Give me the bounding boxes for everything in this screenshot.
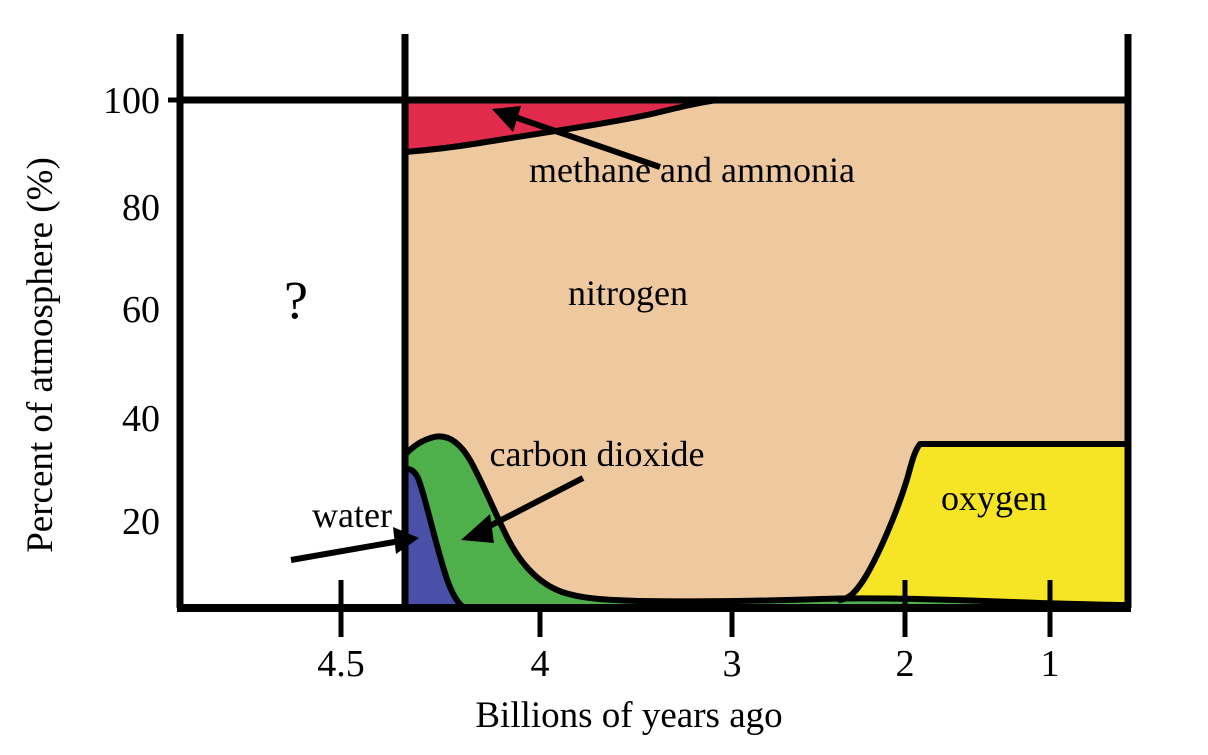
x-tick-label-0: 4.5 [317,643,365,685]
x-tick-label-3: 2 [896,643,915,685]
x-tick-labels: 4.5 4 3 2 1 [317,643,1059,685]
y-axis-title: Percent of atmosphere (%) [20,157,61,553]
x-tick-label-1: 4 [531,643,550,685]
label-methane-ammonia: methane and ammonia [529,150,855,190]
y-tick-label-100: 100 [103,80,160,122]
label-nitrogen: nitrogen [568,273,688,313]
atmosphere-composition-chart: 4.5 4 3 2 1 100 80 60 40 20 Percent of a… [0,0,1208,755]
label-water: water [312,495,392,535]
unknown-region-label: ? [284,270,308,330]
x-tick-label-2: 3 [723,643,742,685]
y-tick-label-40: 40 [122,398,160,440]
label-carbon-dioxide: carbon dioxide [490,434,705,474]
x-axis-title: Billions of years ago [475,695,782,736]
water-leader-line [291,541,400,560]
y-tick-label-60: 60 [122,289,160,331]
chart-svg: 4.5 4 3 2 1 100 80 60 40 20 Percent of a… [0,0,1208,755]
y-tick-label-80: 80 [122,187,160,229]
callout-water: water [291,495,419,560]
label-oxygen: oxygen [941,478,1047,518]
x-tick-label-4: 1 [1041,643,1060,685]
y-tick-labels: 100 80 60 40 20 [103,80,160,543]
y-tick-label-20: 20 [122,501,160,543]
